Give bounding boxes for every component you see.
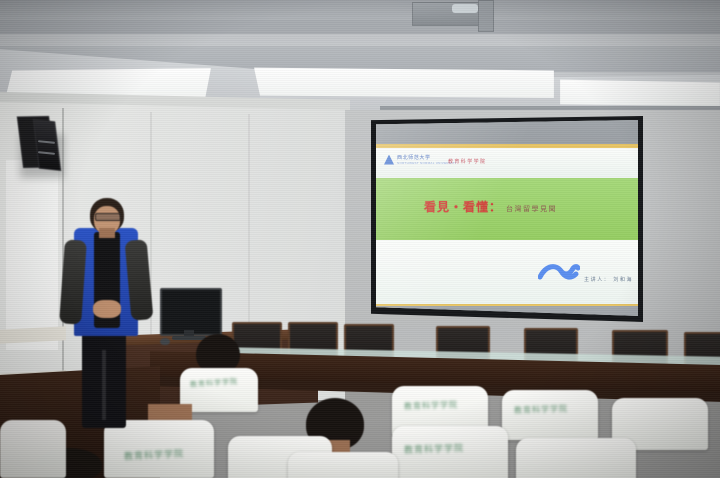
department-name: 教育科学学院 bbox=[448, 158, 486, 165]
ceiling-beam-upper bbox=[0, 20, 720, 34]
chair-cover-text-2: 教育科学学院 bbox=[404, 399, 458, 412]
computer-mouse bbox=[160, 338, 170, 345]
wall-panel-seam-2 bbox=[150, 112, 152, 362]
presenter-hands bbox=[93, 300, 121, 318]
university-logo: 西北师范大学 NORTHWEST NORMAL UNIVERSITY bbox=[384, 154, 457, 165]
projector-lens bbox=[452, 4, 478, 13]
chair-cover-front-5 bbox=[0, 420, 66, 478]
eye-swoosh-logo bbox=[538, 262, 580, 284]
ceiling-top-band bbox=[0, 0, 720, 22]
presenter-glasses bbox=[95, 213, 121, 221]
chair-cover-front-6 bbox=[288, 452, 398, 478]
slide-title-main: 看見‧看懂： bbox=[424, 200, 502, 214]
presenter-leg-gap bbox=[102, 350, 106, 420]
presenter-neck bbox=[99, 228, 115, 238]
podium-monitor bbox=[160, 288, 222, 336]
chair-cover-front-3 bbox=[516, 438, 636, 478]
slide-title-sub: 台灣留學見聞 bbox=[506, 205, 557, 213]
slide-title: 看見‧看懂： 台灣留學見聞 bbox=[424, 198, 557, 216]
slide-presenter-line: 主讲人： 刘和海 bbox=[584, 276, 633, 283]
slide-body-band bbox=[376, 240, 638, 304]
projector-mount bbox=[478, 0, 494, 32]
ceiling-light-panel-right bbox=[254, 66, 554, 98]
chair-cover-text-front-2: 教育科学学院 bbox=[404, 441, 464, 456]
wall-panel-seam-3 bbox=[248, 114, 250, 334]
wall-panel-highlight bbox=[6, 160, 58, 350]
university-crest-icon bbox=[384, 155, 394, 165]
chair-cover-text-3: 教育科学学院 bbox=[514, 403, 568, 416]
lecture-hall-photo: 西北师范大学 NORTHWEST NORMAL UNIVERSITY 教育科学学… bbox=[0, 0, 720, 478]
ceiling-light-panel-far-right bbox=[560, 78, 720, 106]
projection-screen: 西北师范大学 NORTHWEST NORMAL UNIVERSITY 教育科学学… bbox=[376, 120, 638, 316]
